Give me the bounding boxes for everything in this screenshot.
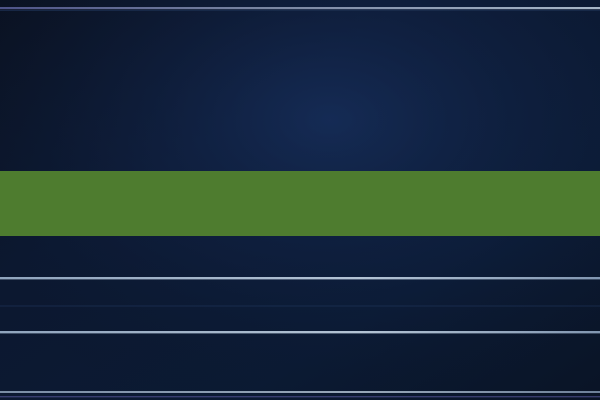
title-banner [0, 171, 600, 236]
stock-chart-image [0, 0, 600, 400]
